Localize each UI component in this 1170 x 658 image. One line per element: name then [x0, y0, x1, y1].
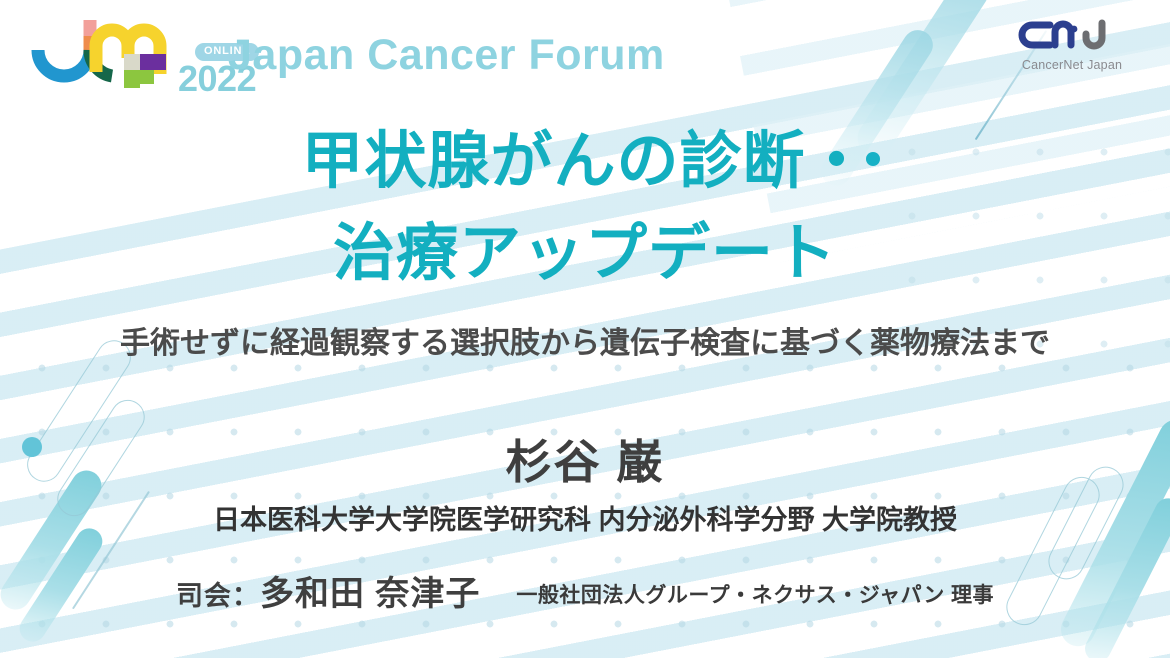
slide-header: ONLINE 2022 Japan Cancer Forum CancerNet… — [0, 0, 1170, 110]
sponsor-logo: CancerNet Japan — [1006, 18, 1138, 72]
moderator-row: 司会：多和田 奈津子 一般社団法人グループ・ネクサス・ジャパン 理事 — [0, 566, 1170, 615]
moderator-affiliation: 一般社団法人グループ・ネクサス・ジャパン 理事 — [516, 579, 994, 609]
moderator-name: 多和田 奈津子 — [260, 575, 480, 613]
speaker-name: 杉谷 巌 — [0, 426, 1170, 492]
jcf-logo-mark — [30, 14, 180, 90]
cnj-logo-mark — [1012, 18, 1132, 52]
title-line-2: 治療アップデート — [0, 208, 1170, 300]
slide-title: 甲状腺がんの診断・ 治療アップデート — [0, 116, 1170, 300]
moderator-label: 司会： — [176, 581, 260, 611]
speaker-affiliation: 日本医科大学大学院医学研究科 内分泌外科学分野 大学院教授 — [0, 498, 1170, 537]
event-logo: ONLINE 2022 — [30, 14, 240, 94]
slide-subtitle: 手術せずに経過観察する選択肢から遺伝子検査に基づく薬物療法まで — [0, 318, 1170, 362]
title-line-1: 甲状腺がんの診断・ — [0, 116, 1170, 208]
sponsor-name: CancerNet Japan — [1006, 59, 1138, 72]
event-title: Japan Cancer Forum — [228, 34, 665, 77]
presentation-title-slide: ONLINE 2022 Japan Cancer Forum CancerNet… — [0, 0, 1170, 658]
moderator-name-group: 司会：多和田 奈津子 — [176, 566, 480, 615]
